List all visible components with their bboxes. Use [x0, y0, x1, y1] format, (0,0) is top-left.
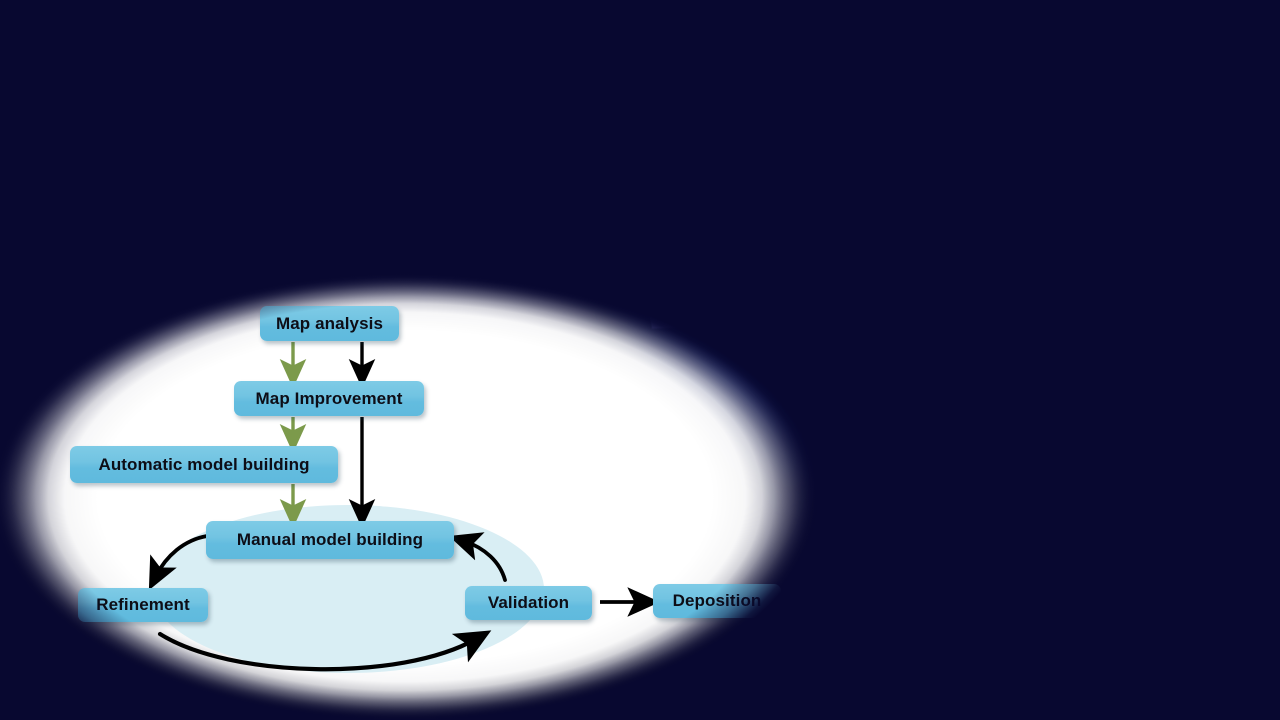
node-label: Refinement: [96, 595, 190, 615]
node-deposition[interactable]: Deposition: [653, 584, 781, 618]
node-manual-model-building[interactable]: Manual model building: [206, 521, 454, 559]
edge-manual-to-refinement: [156, 536, 207, 576]
node-label: Automatic model building: [98, 455, 309, 475]
node-label: Validation: [488, 593, 569, 613]
node-label: Deposition: [673, 591, 762, 611]
node-label: Map analysis: [276, 314, 383, 334]
slide-canvas: Tutorial Tutorial Cryo-EM tools: [0, 0, 1280, 720]
edge-validation-to-manual: [464, 541, 505, 580]
node-label: Manual model building: [237, 530, 423, 550]
node-label: Map Improvement: [256, 389, 403, 409]
edge-refinement-to-validation: [160, 634, 476, 669]
node-map-analysis[interactable]: Map analysis: [260, 306, 399, 341]
node-validation[interactable]: Validation: [465, 586, 592, 620]
workflow-diagram: Map analysis Map Improvement Automatic m…: [0, 0, 1280, 720]
node-automatic-model-building[interactable]: Automatic model building: [70, 446, 338, 483]
node-refinement[interactable]: Refinement: [78, 588, 208, 622]
node-map-improvement[interactable]: Map Improvement: [234, 381, 424, 416]
